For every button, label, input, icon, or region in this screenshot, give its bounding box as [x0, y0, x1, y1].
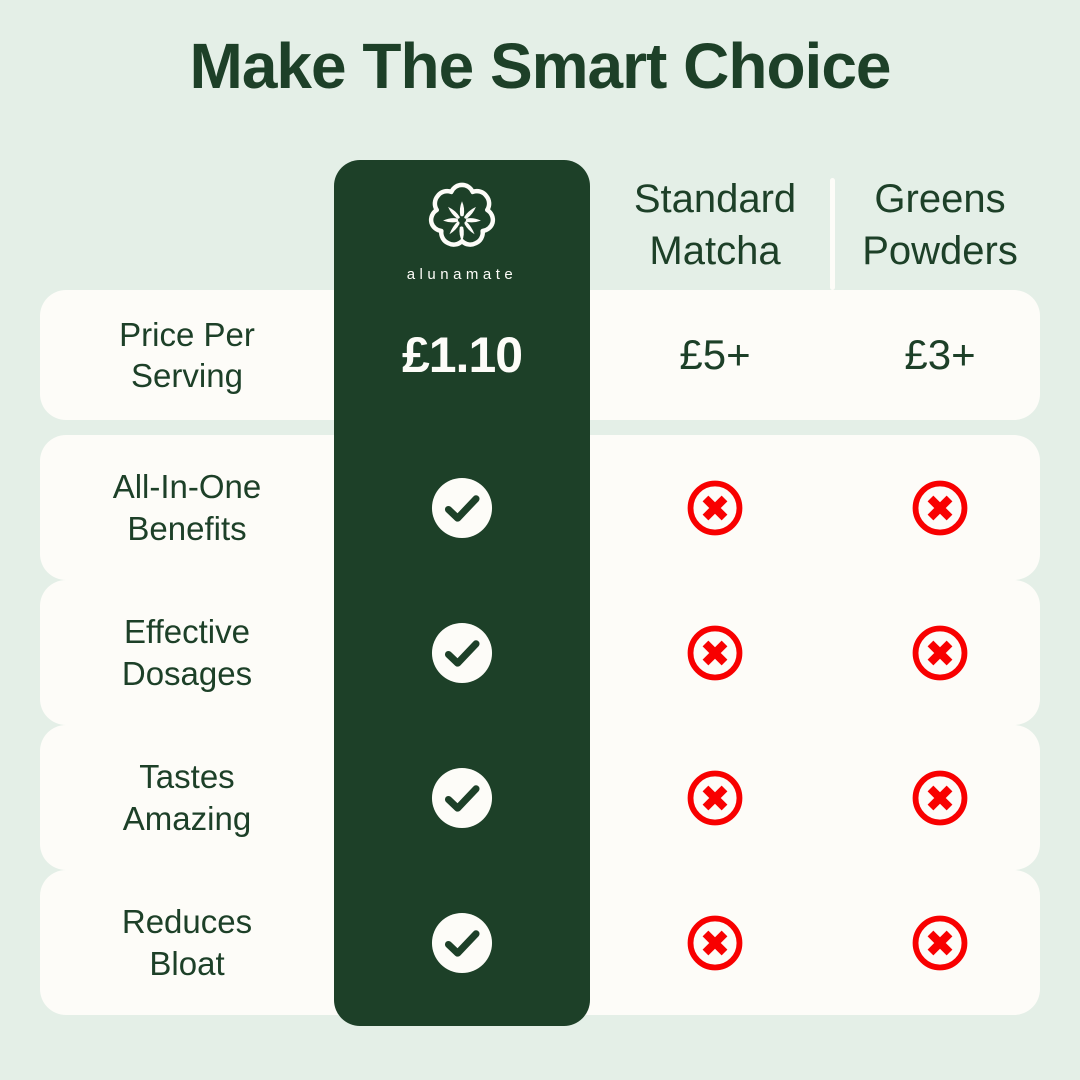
cell-greens-effective-dosages — [840, 580, 1040, 725]
cross-circle-icon — [911, 624, 969, 682]
column-header-greens-powders-line2: Powders — [862, 225, 1018, 277]
row-label-line1: All-In-One — [113, 468, 262, 505]
row-label-reduces-bloat: Reduces Bloat — [40, 870, 334, 1015]
comparison-table: Standard Matcha Greens Powders — [40, 160, 1040, 1030]
header-divider — [830, 178, 835, 290]
cell-greens-all-in-one — [840, 435, 1040, 580]
row-label-line2: Bloat — [149, 945, 224, 982]
check-circle-icon — [431, 767, 493, 829]
cell-standard-tastes-amazing — [590, 725, 840, 870]
row-label-line1: Reduces — [122, 903, 252, 940]
row-label-line1: Effective — [124, 613, 250, 650]
cross-circle-icon — [911, 769, 969, 827]
row-label-line2: Dosages — [122, 655, 252, 692]
cross-circle-icon — [686, 769, 744, 827]
brand-cell-tastes-amazing — [334, 725, 590, 870]
row-label-line2: Benefits — [127, 510, 246, 547]
check-circle-icon — [431, 912, 493, 974]
cell-standard-reduces-bloat — [590, 870, 840, 1015]
column-header-greens-powders: Greens Powders — [840, 160, 1040, 290]
row-label-line1: Price Per — [119, 316, 255, 353]
flower-starburst-icon — [419, 178, 505, 264]
cross-circle-icon — [686, 479, 744, 537]
page-title: Make The Smart Choice — [0, 30, 1080, 104]
column-header-standard-matcha-line1: Standard — [634, 173, 796, 225]
brand-cell-price: £1.10 — [334, 290, 590, 420]
row-label-effective-dosages: Effective Dosages — [40, 580, 334, 725]
cell-greens-price: £3+ — [840, 290, 1040, 420]
row-label-line1: Tastes — [139, 758, 234, 795]
row-label-line2: Serving — [131, 357, 243, 394]
brand-price-value: £1.10 — [402, 326, 522, 384]
cell-standard-effective-dosages — [590, 580, 840, 725]
cell-standard-price: £5+ — [590, 290, 840, 420]
brand-highlight-column: alunamate £1.10 — [334, 160, 590, 1026]
brand-name: alunamate — [407, 266, 518, 283]
cross-circle-icon — [911, 914, 969, 972]
brand-cell-effective-dosages — [334, 580, 590, 725]
column-header-standard-matcha: Standard Matcha — [590, 160, 840, 290]
cross-circle-icon — [686, 914, 744, 972]
column-header-greens-powders-line1: Greens — [874, 173, 1005, 225]
row-label-line2: Amazing — [123, 800, 251, 837]
cross-circle-icon — [686, 624, 744, 682]
cell-standard-all-in-one — [590, 435, 840, 580]
cross-circle-icon — [911, 479, 969, 537]
brand-cell-all-in-one — [334, 435, 590, 580]
row-label-price-per-serving: Price Per Serving — [40, 290, 334, 420]
column-header-standard-matcha-line2: Matcha — [649, 225, 780, 277]
check-circle-icon — [431, 477, 493, 539]
row-label-all-in-one-benefits: All-In-One Benefits — [40, 435, 334, 580]
check-circle-icon — [431, 622, 493, 684]
brand-logo: alunamate — [334, 170, 590, 290]
cell-greens-reduces-bloat — [840, 870, 1040, 1015]
cell-greens-tastes-amazing — [840, 725, 1040, 870]
row-label-tastes-amazing: Tastes Amazing — [40, 725, 334, 870]
brand-cell-reduces-bloat — [334, 870, 590, 1015]
